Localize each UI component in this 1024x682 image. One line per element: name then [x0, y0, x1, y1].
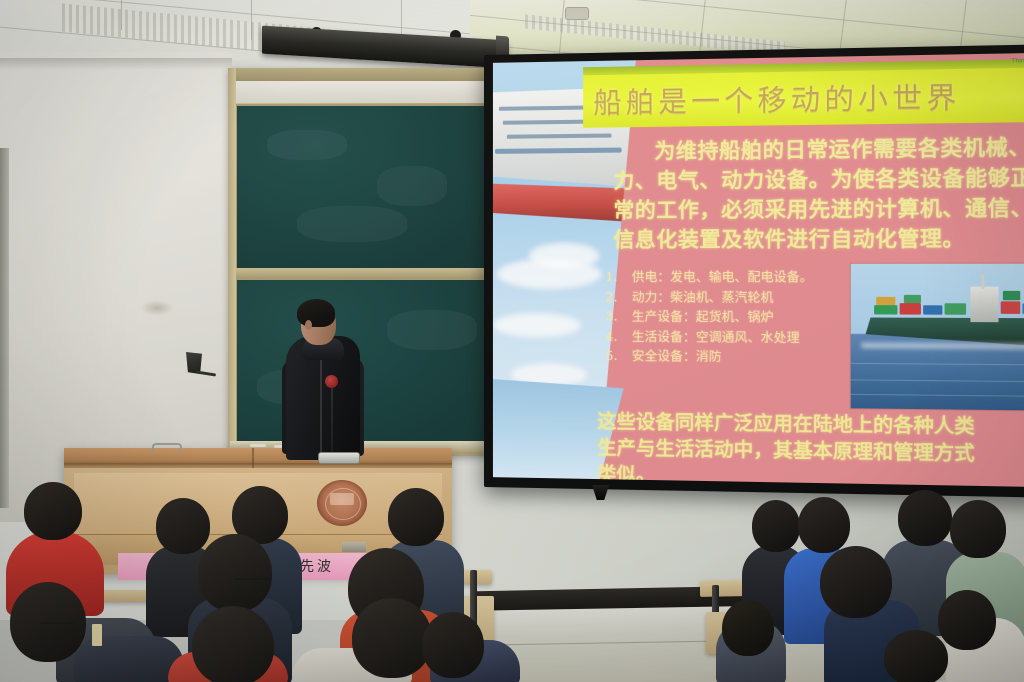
container-ship-photo	[850, 263, 1024, 412]
slide-title: 船舶是一个移动的小世界	[593, 74, 1024, 126]
container-ship-bridge	[970, 287, 998, 323]
slide-watermark: Thinki	[1011, 57, 1024, 65]
blackboard-top-rail	[228, 68, 500, 81]
presentation-slide: 船舶是一个移动的小世界 为维持船舶的日常运作需要各类机械、电 力、电气、动力设备…	[493, 53, 1024, 487]
door-frame-edge	[0, 148, 9, 508]
audience-head	[938, 590, 996, 650]
lectern-desktop-edge	[64, 463, 452, 468]
audience-head	[24, 482, 82, 540]
audience-head	[722, 600, 774, 656]
ship-wake	[861, 342, 1024, 349]
wall-shadow	[0, 58, 232, 70]
eyeglasses-icon	[40, 622, 74, 624]
slide-paragraph-line: 为维持船舶的日常运作需要各类机械、电	[654, 135, 1024, 164]
presenter-jacket-zip	[320, 352, 322, 452]
blackboard-upper-panel	[235, 104, 497, 272]
audience-head	[820, 546, 892, 618]
container-ship-mast	[981, 274, 984, 289]
container-ship-hull	[866, 318, 1024, 346]
slide-paragraph-line: 常的工作，必须采用先进的计算机、通信、	[613, 193, 1024, 225]
bench-post	[470, 570, 477, 625]
university-crest-icon	[317, 480, 367, 526]
lectern-handle-left[interactable]	[152, 443, 182, 452]
list-item-label: 安全设备：消防	[632, 346, 722, 367]
slide-footer-paragraph: 这些设备同样广泛应用在陆地上的各种人类 生产与生活活动中，其基本原理和管理方式 …	[597, 408, 1024, 487]
slide-paragraph-line: 信息化装置及软件进行自动化管理。	[613, 224, 1024, 255]
crest-inner	[330, 493, 354, 505]
presenter-hair	[297, 299, 335, 327]
list-item-number: 5.	[605, 346, 631, 366]
audience-head	[898, 490, 952, 546]
audience-head	[950, 500, 1006, 558]
microphone-base	[318, 452, 360, 464]
wall-mark	[140, 300, 174, 316]
audience-head	[422, 612, 484, 678]
audience-head	[388, 488, 444, 546]
list-item-number: 2.	[605, 287, 631, 307]
eyeglasses-icon	[234, 578, 270, 580]
microphone-icon	[325, 375, 338, 388]
audience-head	[352, 598, 432, 678]
blackboard-left-post	[228, 68, 236, 456]
list-item-label: 生活设备：空调通风、水处理	[632, 326, 800, 347]
audience-torso	[600, 650, 710, 682]
list-item-label: 生产设备：起货机、锅炉	[632, 307, 774, 328]
slide-paragraph: 为维持船舶的日常运作需要各类机械、电 力、电气、动力设备。为使各类设备能够正 常…	[613, 132, 1024, 254]
blackboard-lower-panel	[235, 278, 497, 448]
lecture-hall-photo: 船舶是一个移动的小世界 为维持船舶的日常运作需要各类机械、电 力、电气、动力设备…	[0, 0, 1024, 682]
audience-head	[156, 498, 210, 554]
audience-head	[198, 534, 272, 612]
audience-head	[192, 606, 274, 682]
audience-head	[884, 630, 948, 682]
list-item-number: 4.	[605, 326, 631, 346]
blackboard-white-strip	[232, 81, 496, 103]
lectern-control-plate	[342, 542, 366, 552]
smoke-detector-icon	[565, 7, 589, 20]
projection-screen: 船舶是一个移动的小世界 为维持船舶的日常运作需要各类机械、电 力、电气、动力设备…	[484, 44, 1024, 497]
jacket-tag	[92, 624, 102, 646]
audience-head	[752, 500, 800, 552]
list-item-number: 1.	[605, 267, 631, 287]
slide-paragraph-line: 力、电气、动力设备。为使各类设备能够正	[613, 163, 1024, 196]
list-item-label: 供电：发电、输电、配电设备。	[632, 267, 813, 287]
lectern-seam	[252, 448, 254, 468]
audience-head	[798, 497, 850, 553]
screen-surface: 船舶是一个移动的小世界 为维持船舶的日常运作需要各类机械、电 力、电气、动力设备…	[493, 53, 1024, 487]
list-item-number: 3.	[605, 307, 631, 327]
microphone-stand	[331, 382, 333, 456]
presenter-ear	[305, 320, 312, 330]
list-item-label: 动力：柴油机、蒸汽轮机	[632, 287, 774, 307]
